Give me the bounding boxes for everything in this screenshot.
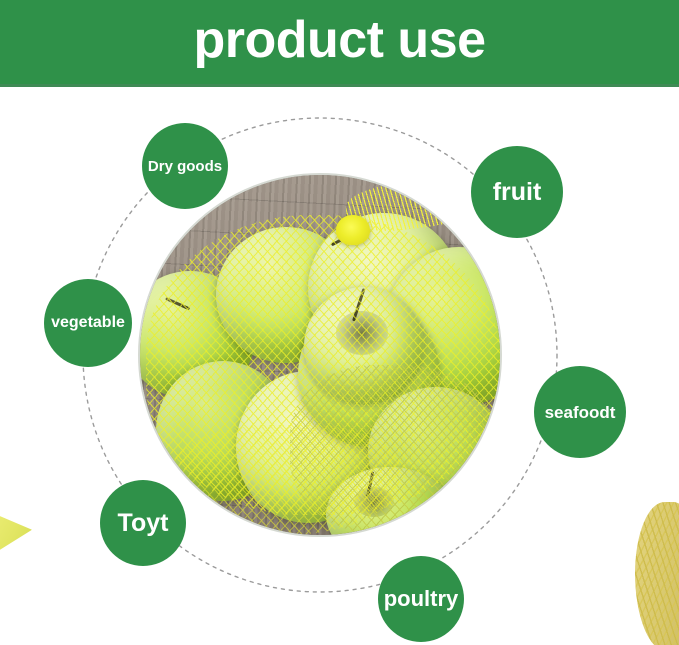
page-title: product use [193, 14, 485, 70]
product-use-infographic: product use [0, 0, 679, 645]
label-text-poultry: poultry [384, 588, 459, 610]
label-bubble-toyt[interactable]: Toyt [100, 480, 186, 566]
label-text-dry-goods: Dry goods [148, 159, 222, 174]
center-product-photo [138, 173, 502, 537]
label-text-toyt: Toyt [118, 511, 169, 536]
label-bubble-seafoodt[interactable]: seafoodt [534, 366, 626, 458]
label-text-seafoodt: seafoodt [545, 404, 616, 421]
label-bubble-fruit[interactable]: fruit [471, 146, 563, 238]
label-bubble-dry-goods[interactable]: Dry goods [142, 123, 228, 209]
radial-diagram: Dry goods fruit vegetable seafoodt Toyt … [0, 87, 679, 645]
label-bubble-poultry[interactable]: poultry [378, 556, 464, 642]
header-banner: product use [0, 0, 679, 84]
label-text-fruit: fruit [493, 180, 542, 205]
label-text-vegetable: vegetable [51, 315, 125, 331]
yellow-mesh-net [170, 425, 400, 535]
mesh-knot [336, 215, 370, 245]
label-bubble-vegetable[interactable]: vegetable [44, 279, 132, 367]
